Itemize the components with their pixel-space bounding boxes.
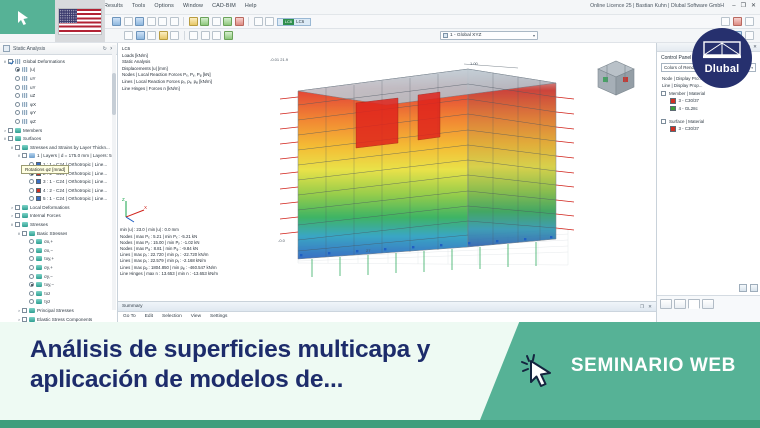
tree-radio[interactable]: [29, 188, 34, 193]
navigator-title: Static Analysis: [13, 46, 45, 52]
tree-item-label: σx,+: [44, 239, 53, 244]
tree-item-label: 5 : 1 - C24 | Orthotropic | Line...: [43, 196, 107, 201]
member-material-label: Member | Material: [669, 91, 705, 96]
tree-checkbox[interactable]: [22, 153, 27, 158]
tree-item-label: φZ: [30, 119, 36, 124]
corner-accent-block: [0, 0, 58, 34]
tab-color-scale[interactable]: [660, 299, 672, 309]
tree-item-icon: [22, 110, 28, 115]
toolbar-separator: [183, 17, 184, 26]
tree-item-label: 3 : 1 - C24 | Orthotropic | Line...: [43, 179, 107, 184]
pan-icon[interactable]: [124, 31, 133, 40]
material-label: 4 - GL28c: [679, 106, 698, 111]
load-combination-icon[interactable]: [265, 17, 274, 26]
tree-radio[interactable]: [29, 299, 34, 304]
scale-label-0: -0.01 21.9: [270, 57, 288, 62]
tree-item-icon: [22, 119, 28, 124]
tree-item-label: Stresses: [30, 222, 48, 227]
tree-item[interactable]: σy,+: [0, 263, 117, 272]
tree-radio[interactable]: [15, 93, 20, 98]
control-panel: ◻ ✕ Control Panel Colors of Rendered... …: [656, 43, 760, 325]
tab-display[interactable]: [702, 299, 714, 309]
tree-item-label: Basic Stresses: [37, 231, 67, 236]
tree-item[interactable]: τxy,−: [0, 280, 117, 289]
menu-item-cad-bim[interactable]: CAD-BIM: [212, 3, 236, 9]
tree-item[interactable]: 5 : 1 - C24 | Orthotropic | Line...: [0, 195, 117, 204]
calculate-icon[interactable]: [189, 17, 198, 26]
menu-item-results[interactable]: Results: [104, 3, 123, 9]
material-label: 3 - C30/37: [679, 98, 700, 103]
tree-radio[interactable]: [29, 265, 34, 270]
tree-checkbox[interactable]: [15, 222, 20, 227]
refresh-icon[interactable]: ↻: [103, 46, 107, 52]
tree-item-label: σy,−: [44, 274, 53, 279]
tree-item[interactable]: ∨Global Deformations: [0, 57, 117, 66]
summary-menu-selection[interactable]: Selection: [162, 314, 182, 319]
license-info: Online Licence 25 | Bastian Kuhn | Dluba…: [590, 3, 724, 9]
tree-item-icon: [22, 102, 28, 107]
close-icon[interactable]: ✕: [648, 304, 652, 310]
view-icon-group[interactable]: [124, 31, 233, 40]
tree-radio[interactable]: [15, 76, 20, 81]
tree-checkbox[interactable]: [8, 128, 13, 133]
restore-icon[interactable]: ❐: [741, 2, 746, 9]
pin-icon[interactable]: [733, 17, 742, 26]
tree-item-label: φX: [30, 102, 36, 107]
tree-radio[interactable]: [15, 67, 20, 72]
tree-item-icon: [15, 128, 21, 133]
tree-checkbox[interactable]: [15, 205, 20, 210]
coordinate-system-value: 1 - Global XYZ: [450, 33, 481, 38]
tree-item-icon: [36, 239, 42, 244]
tree-item-icon: [36, 282, 42, 287]
banner-title-line2: aplicación de modelos de...: [30, 365, 500, 395]
color-swatch: [670, 98, 676, 104]
tree-item[interactable]: >Members: [0, 126, 117, 135]
tree-item[interactable]: σx,+: [0, 237, 117, 246]
summary-menu-settings[interactable]: Settings: [210, 314, 227, 319]
load-case-icon[interactable]: [254, 17, 263, 26]
result-legend-line: Nodes | Local Reaction Forces Pₓ, Pᵧ, Pᵩ…: [122, 72, 212, 79]
color-scale-icon[interactable]: [739, 284, 747, 292]
scale-label-3: 27: [366, 248, 370, 253]
tree-item[interactable]: ∨1 | Layers | d = 175.0 mm | Layers: 5: [0, 152, 117, 161]
zoom-window-icon[interactable]: [136, 31, 145, 40]
tree-item[interactable]: τyz: [0, 298, 117, 307]
rotate-icon[interactable]: [745, 17, 754, 26]
tree-item[interactable]: φX: [0, 100, 117, 109]
grid-icon[interactable]: [201, 31, 210, 40]
save-icon[interactable]: [135, 17, 144, 26]
tree-item[interactable]: ∨Surfaces: [0, 134, 117, 143]
color-swatch: [670, 106, 676, 112]
dlubal-logo: Dlubal: [692, 28, 752, 88]
tree-item[interactable]: uY: [0, 74, 117, 83]
result-legend-line: LC6: [122, 46, 212, 53]
minimize-icon[interactable]: –: [732, 3, 735, 9]
toolbar-icon-group[interactable]: LC6 LC6: [112, 17, 311, 26]
check-icon[interactable]: [223, 17, 232, 26]
tree-item-label: uZ: [30, 93, 35, 98]
navigator-panel: Static Analysis ↻ ✕ ∨Global Deformations…: [0, 43, 118, 325]
tree-checkbox[interactable]: [22, 317, 27, 322]
stop-icon[interactable]: [235, 17, 244, 26]
close-icon[interactable]: ✕: [753, 44, 757, 50]
layer-color-swatch: [36, 188, 41, 193]
summary-menu-view[interactable]: View: [191, 314, 201, 319]
tree-item-label: Principal Stresses: [37, 308, 74, 313]
tree-item[interactable]: τxy,+: [0, 255, 117, 264]
tree-item-icon: [22, 213, 28, 218]
settings-gear-icon[interactable]: [212, 17, 221, 26]
group-checkbox[interactable]: [661, 119, 666, 124]
result-legend-line: Lines | Local Reaction Forces pₓ, pᵧ, pᵩ…: [122, 79, 212, 86]
tree-item-icon: [22, 205, 28, 210]
tree-item-label: τxy,+: [44, 256, 54, 261]
surface-material-group[interactable]: Surface | Material: [657, 117, 760, 125]
dlubal-logo-text: Dlubal: [705, 63, 740, 75]
summary-menu-go-to[interactable]: Go To: [123, 314, 136, 319]
menu-bar[interactable]: ResultsToolsOptionsWindowCAD-BIMHelp: [104, 3, 257, 9]
tree-item-label: Elastic Stress Components: [37, 317, 92, 322]
tree-item-label: τyz: [44, 299, 50, 304]
tree-item[interactable]: φY: [0, 109, 117, 118]
tree-item[interactable]: >Principal Stresses: [0, 306, 117, 315]
screenshot-root: ResultsToolsOptionsWindowCAD-BIMHelp Onl…: [0, 0, 760, 428]
svg-text:X: X: [144, 205, 147, 210]
banner-title: Análisis de superficies multicapa y apli…: [30, 335, 500, 395]
layer-color-swatch: [36, 179, 41, 184]
tree-item-icon: [29, 231, 35, 236]
axis-cube-icon: [443, 33, 448, 38]
zoom-all-icon[interactable]: [147, 31, 156, 40]
tree-item-icon: [36, 265, 42, 270]
tree-item-label: |u|: [30, 67, 35, 72]
tree-item-icon: [29, 317, 35, 322]
axis-triad: Z X: [120, 197, 150, 223]
tree-item-icon: [36, 248, 42, 253]
result-legend-line: Loads [kN/m]: [122, 53, 212, 60]
tree-checkbox[interactable]: [15, 213, 20, 218]
result-legend-line: Displacements |u| [mm]: [122, 66, 212, 73]
cursor-click-icon: [14, 9, 32, 27]
print-preview-icon[interactable]: [147, 17, 156, 26]
tree-item[interactable]: σy,−: [0, 272, 117, 281]
tree-item[interactable]: |u|: [0, 66, 117, 75]
new-model-icon[interactable]: [112, 17, 121, 26]
material-item[interactable]: 3 - C30/37: [657, 125, 760, 133]
minmax-summary-text: min |u| : 23.0 | min |u| : 0.0 mmNodes |…: [120, 227, 218, 277]
scale-label-2: -0.0: [278, 238, 285, 243]
tree-item[interactable]: uZ: [0, 91, 117, 100]
tree-item-label: Global Deformations: [23, 59, 65, 64]
webinar-banner: Análisis de superficies multicapa y apli…: [0, 322, 760, 428]
tree-item-icon: [36, 299, 42, 304]
tree-item[interactable]: >Local Deformations: [0, 203, 117, 212]
tree-item-icon: [22, 76, 28, 81]
banner-bottom-bar: [0, 420, 760, 428]
chevron-down-icon[interactable]: ▾: [751, 66, 753, 70]
tree-item[interactable]: τxz: [0, 289, 117, 298]
tree-item[interactable]: ∨Basic Stresses: [0, 229, 117, 238]
title-bar: ResultsToolsOptionsWindowCAD-BIMHelp Onl…: [0, 0, 760, 15]
tree-item-label: 1 | Layers | d = 175.0 mm | Layers: 5: [37, 153, 112, 158]
tree-item[interactable]: σx,−: [0, 246, 117, 255]
webinar-badge-label: SEMINARIO WEB: [571, 355, 736, 377]
tree-item-label: Members: [23, 128, 42, 133]
view-cube-icon[interactable]: [594, 57, 638, 99]
close-icon[interactable]: ✕: [751, 2, 756, 9]
tree-radio[interactable]: [29, 282, 34, 287]
scrollbar-thumb[interactable]: [112, 73, 116, 115]
control-panel-tabs[interactable]: [657, 296, 760, 312]
tree-item-icon: [22, 93, 28, 98]
tree-checkbox[interactable]: [8, 59, 13, 64]
tree-radio[interactable]: [15, 102, 20, 107]
globe-icon[interactable]: [200, 17, 209, 26]
tree-item-label: uY: [30, 76, 36, 81]
tree-item-label: Surfaces: [23, 136, 41, 141]
render-icon[interactable]: [159, 31, 168, 40]
scale-label-1: 1.00: [470, 61, 478, 66]
summary-header-controls[interactable]: ❐ ✕: [640, 304, 652, 310]
frame-truss-icon: [703, 41, 741, 61]
tree-item-icon: [15, 136, 21, 141]
rfem-application-window: ResultsToolsOptionsWindowCAD-BIMHelp Onl…: [0, 0, 760, 325]
tree-checkbox[interactable]: [22, 231, 27, 236]
summary-header: Summary ❐ ✕: [118, 302, 656, 312]
tree-checkbox[interactable]: [22, 308, 27, 313]
coordinate-system-selector[interactable]: 1 - Global XYZ ▾: [440, 31, 538, 40]
result-legend-line: Line Hinges | Forces n [kN/m]: [122, 86, 212, 93]
wireframe-icon[interactable]: [170, 31, 179, 40]
tree-item[interactable]: ∨Stresses and Strains by Layer Thickn...: [0, 143, 117, 152]
tree-radio[interactable]: [15, 110, 20, 115]
tree-item-label: 4 : 2 - C24 | Orthotropic | Line...: [43, 188, 107, 193]
tree-item[interactable]: ∨Stresses: [0, 220, 117, 229]
toolbar-separator: [184, 31, 185, 40]
tree-radio[interactable]: [29, 274, 34, 279]
navigator-header: Static Analysis ↻ ✕: [0, 43, 117, 55]
tree-radio[interactable]: [15, 119, 20, 124]
tree-item-label: Local Deformations: [30, 205, 70, 210]
load-case-label: LC6: [296, 19, 304, 24]
menu-item-window[interactable]: Window: [183, 3, 203, 9]
tree-item-icon: [22, 145, 28, 150]
color-swatch: [670, 126, 676, 132]
language-flag-container: [55, 0, 105, 42]
surface-material-label: Surface | Material: [669, 119, 704, 124]
material-label: 3 - C30/37: [679, 126, 700, 131]
tree-tooltip: Rotations φz [mrad]: [21, 165, 69, 174]
tree-checkbox[interactable]: [15, 145, 20, 150]
cursor-click-icon: [520, 352, 556, 388]
minmax-line: Lines | max pᵩ : 1804.850 | min pᵩ : -46…: [120, 265, 218, 271]
tree-item-label: Stresses and Strains by Layer Thickn...: [30, 145, 110, 150]
menu-item-help[interactable]: Help: [245, 3, 257, 9]
svg-text:Z: Z: [122, 197, 125, 202]
view-toolbar[interactable]: 1 - Global XYZ ▾: [0, 29, 760, 43]
zoom-icon[interactable]: [721, 17, 730, 26]
tree-item-label: uY: [30, 85, 36, 90]
tree-item[interactable]: 4 : 2 - C24 | Orthotropic | Line...: [0, 186, 117, 195]
tree-radio[interactable]: [29, 196, 34, 201]
restore-icon[interactable]: ❐: [640, 304, 644, 310]
tree-radio[interactable]: [29, 239, 34, 244]
tab-factors[interactable]: [674, 299, 686, 309]
tab-filter[interactable]: [688, 299, 700, 309]
tree-item[interactable]: >Internal Forces: [0, 212, 117, 221]
tree-item-label: τxy,−: [44, 282, 54, 287]
tree-item-icon: [22, 85, 28, 90]
tree-checkbox[interactable]: [8, 136, 13, 141]
tree-radio[interactable]: [29, 291, 34, 296]
tree-item-icon: [22, 67, 28, 72]
minmax-line: Line Hinges | max n : 13.653 | min n : -…: [120, 271, 218, 277]
load-case-chip: LC6: [283, 19, 294, 25]
main-toolbar[interactable]: LC6 LC6: [0, 15, 760, 29]
toolbar-right-group[interactable]: [721, 17, 754, 26]
flag-stars: [59, 9, 77, 24]
toolbar-separator: [248, 17, 249, 26]
tree-item-icon: [36, 256, 42, 261]
minmax-line: Lines | max pᵧ : 22.579 | min pᵧ : -2.16…: [120, 258, 218, 264]
tree-item-icon: [36, 274, 42, 279]
material-item[interactable]: 3 - C30/37: [657, 97, 760, 105]
menu-item-tools[interactable]: Tools: [132, 3, 145, 9]
control-panel-footer: [657, 295, 760, 325]
tree-item-icon: [22, 222, 28, 227]
model-viewport[interactable]: LC6Loads [kN/m]Static AnalysisDisplaceme…: [118, 43, 656, 301]
export-icon[interactable]: [750, 284, 758, 292]
tree-item[interactable]: 3 : 1 - C24 | Orthotropic | Line...: [0, 177, 117, 186]
summary-menu[interactable]: Go ToEditSelectionViewSettings: [118, 312, 656, 321]
tree-radio[interactable]: [15, 85, 20, 90]
measure-icon[interactable]: [224, 31, 233, 40]
banner-title-line1: Análisis de superficies multicapa y: [30, 335, 500, 365]
group-checkbox[interactable]: [661, 91, 666, 96]
member-material-group[interactable]: Member | Material: [657, 89, 760, 97]
chevron-down-icon[interactable]: ▾: [533, 33, 535, 38]
summary-menu-edit[interactable]: Edit: [145, 314, 153, 319]
snap-icon[interactable]: [189, 31, 198, 40]
tree-radio[interactable]: [29, 179, 34, 184]
summary-title: Summary: [122, 304, 143, 309]
properties-icon[interactable]: [745, 31, 754, 40]
layer-color-swatch: [36, 196, 41, 201]
load-case-selector[interactable]: LC6 LC6: [277, 18, 311, 26]
tree-item-label: τxz: [44, 291, 50, 296]
menu-item-options[interactable]: Options: [154, 3, 174, 9]
tree-item-label: σx,−: [44, 248, 53, 253]
results-tree[interactable]: ∨Global Deformations|u|uYuYuZφXφYφZ>Memb…: [0, 55, 117, 325]
material-item[interactable]: 4 - GL28c: [657, 105, 760, 113]
tree-item-label: Internal Forces: [30, 213, 61, 218]
open-icon[interactable]: [124, 17, 133, 26]
panel-action-icons[interactable]: [739, 284, 758, 292]
tree-item-label: σy,+: [44, 265, 53, 270]
result-legend-text: LC6Loads [kN/m]Static AnalysisDisplaceme…: [122, 46, 212, 92]
navigator-icon: [3, 45, 10, 52]
building-fem-model[interactable]: [268, 51, 598, 281]
tree-item-label: φY: [30, 110, 36, 115]
tree-item-icon: [15, 59, 21, 64]
tree-item-icon: [29, 308, 35, 313]
report-icon[interactable]: [170, 17, 179, 26]
window-controls[interactable]: – ❐ ✕: [732, 2, 756, 9]
tree-item-icon: [36, 291, 42, 296]
result-legend-line: Static Analysis: [122, 59, 212, 66]
tree-item[interactable]: φZ: [0, 117, 117, 126]
print-icon[interactable]: [158, 17, 167, 26]
tree-item-icon: [29, 153, 35, 158]
ortho-icon[interactable]: [212, 31, 221, 40]
tree-radio[interactable]: [29, 256, 34, 261]
tree-scrollbar[interactable]: [112, 45, 116, 310]
tree-radio[interactable]: [29, 248, 34, 253]
us-flag-icon: [58, 8, 102, 35]
tree-item[interactable]: uY: [0, 83, 117, 92]
